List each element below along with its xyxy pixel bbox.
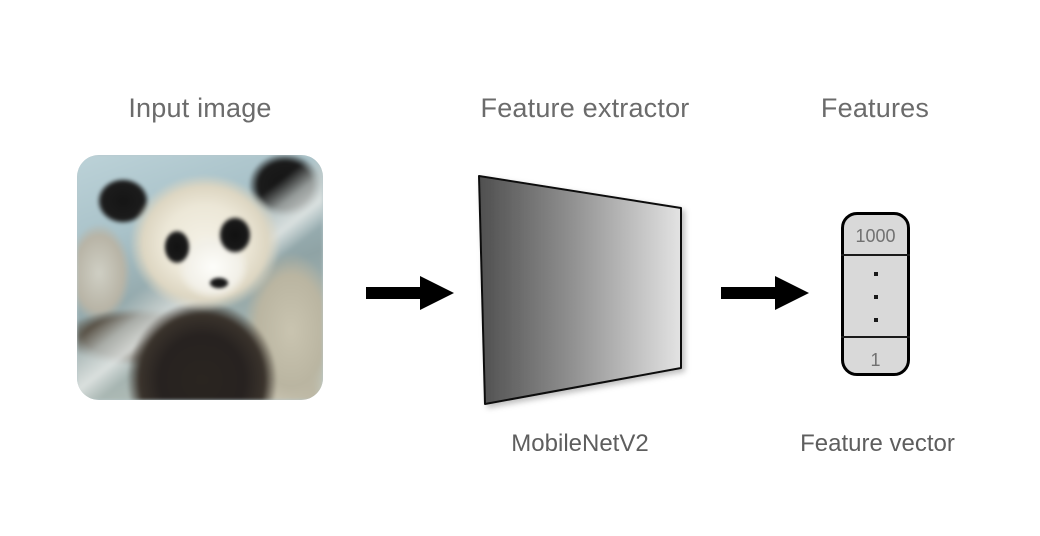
feature-vector-bottom-label: 1 — [841, 351, 910, 369]
ellipsis-dot-icon — [874, 272, 878, 276]
arrow-extractor-to-features — [715, 272, 815, 316]
feature-vector-top-label: 1000 — [841, 227, 910, 245]
heading-input-image: Input image — [75, 95, 325, 122]
feature-vector-box: 1000 1 — [841, 212, 910, 376]
feature-vector-divider-bottom — [841, 336, 910, 338]
feature-vector-divider-top — [841, 254, 910, 256]
caption-feature-vector: Feature vector — [765, 432, 990, 456]
ellipsis-dot-icon — [874, 295, 878, 299]
arrow-input-to-extractor — [360, 272, 460, 316]
caption-model-name: MobileNetV2 — [460, 432, 700, 456]
diagram-canvas: Input image Feature extractor Features — [0, 0, 1040, 536]
photo-layer-nose — [77, 155, 323, 400]
feature-vector-ellipsis — [841, 266, 910, 328]
heading-feature-extractor: Feature extractor — [440, 95, 730, 122]
input-image-photo — [77, 155, 323, 400]
photo-blur-wrapper — [77, 155, 323, 400]
heading-features: Features — [780, 95, 970, 122]
feature-extractor-shape — [460, 160, 710, 430]
ellipsis-dot-icon — [874, 318, 878, 322]
